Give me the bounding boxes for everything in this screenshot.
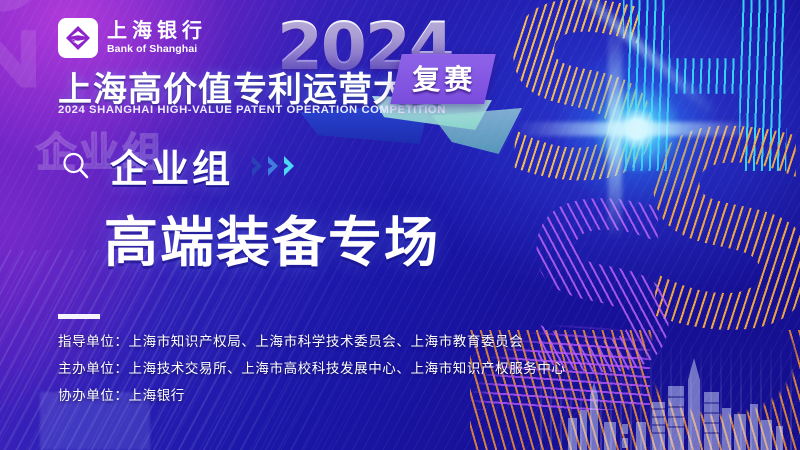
bank-logo[interactable]: 上海银行 Bank of Shanghai xyxy=(58,18,207,58)
chevron-right-icon-1 xyxy=(251,155,264,177)
bank-logo-mark xyxy=(58,18,98,58)
diamond-arrow-icon xyxy=(63,23,93,53)
stage-badge-label: 复赛 xyxy=(412,58,476,98)
chevron-right-icon-3 xyxy=(283,155,296,177)
search-icon xyxy=(60,150,92,182)
group-row: 企业组 xyxy=(60,138,296,193)
stage-badge: 复赛 xyxy=(390,54,496,104)
chevron-right-icon-2 xyxy=(267,155,280,177)
bank-logo-text: 上海银行 Bank of Shanghai xyxy=(107,21,207,56)
footer-line-cohost: 协办单位：上海银行 xyxy=(58,382,566,409)
footer-line-guidance: 指导单位：上海市知识产权局、上海市科学技术委员会、上海市教育委员会 xyxy=(58,328,566,355)
group-label: 企业组 xyxy=(110,138,233,193)
chevron-group xyxy=(251,155,296,177)
competition-poster: 2024 S H S S xyxy=(0,0,800,450)
footer-line-host: 主办单位：上海技术交易所、上海市高校科技发展中心、上海市知识产权服务中心 xyxy=(58,355,566,382)
footer-divider xyxy=(58,314,100,319)
bank-name-en: Bank of Shanghai xyxy=(107,42,207,56)
competition-title-en: 2024 SHANGHAI HIGH-VALUE PATENT OPERATIO… xyxy=(58,104,446,116)
bank-name-cn: 上海银行 xyxy=(107,21,207,42)
session-headline: 高端装备专场 xyxy=(104,198,440,277)
organizer-footer: 指导单位：上海市知识产权局、上海市科学技术委员会、上海市教育委员会 主办单位：上… xyxy=(58,328,566,409)
